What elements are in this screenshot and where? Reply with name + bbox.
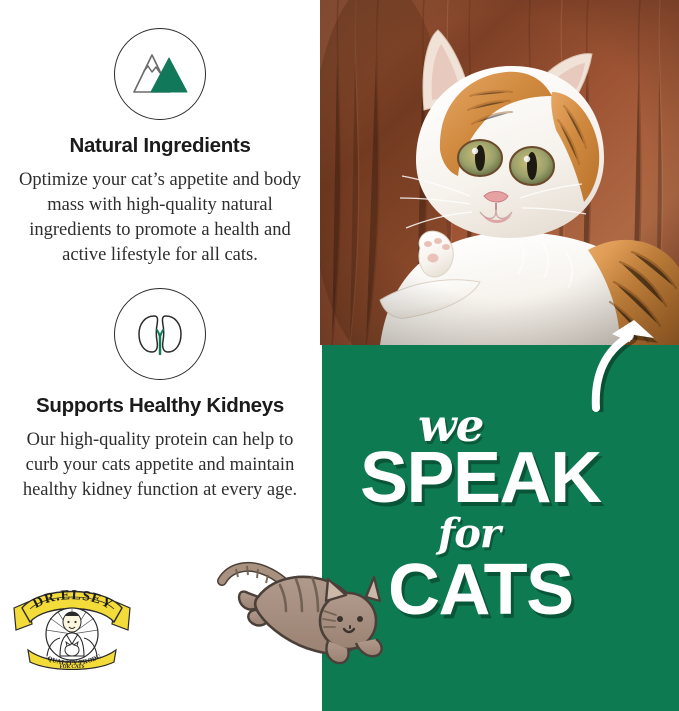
headline-word-speak: SPEAK — [360, 442, 601, 514]
feature-title: Supports Healthy Kidneys — [0, 394, 320, 418]
feature-description: Optimize your cat’s appetite and body ma… — [0, 168, 320, 268]
svg-text:FOR CATS: FOR CATS — [60, 665, 85, 670]
headline-word-cats: CATS — [388, 554, 573, 626]
brand-logo: DR.ELSEYS — [10, 578, 134, 670]
hero-cat-photo — [320, 0, 679, 345]
mountain-icon — [114, 28, 206, 120]
leaping-cartoon-cat-icon — [214, 545, 396, 665]
feature-supports-healthy-kidneys: Supports Healthy Kidneys Our high-qualit… — [0, 288, 320, 503]
kidneys-icon — [114, 288, 206, 380]
curved-up-arrow-icon — [590, 312, 670, 412]
poster-canvas: Natural Ingredients Optimize your cat’s … — [0, 0, 679, 711]
feature-description: Our high-quality protein can help to cur… — [0, 428, 320, 503]
feature-natural-ingredients: Natural Ingredients Optimize your cat’s … — [0, 28, 320, 268]
feature-title: Natural Ingredients — [0, 134, 320, 158]
